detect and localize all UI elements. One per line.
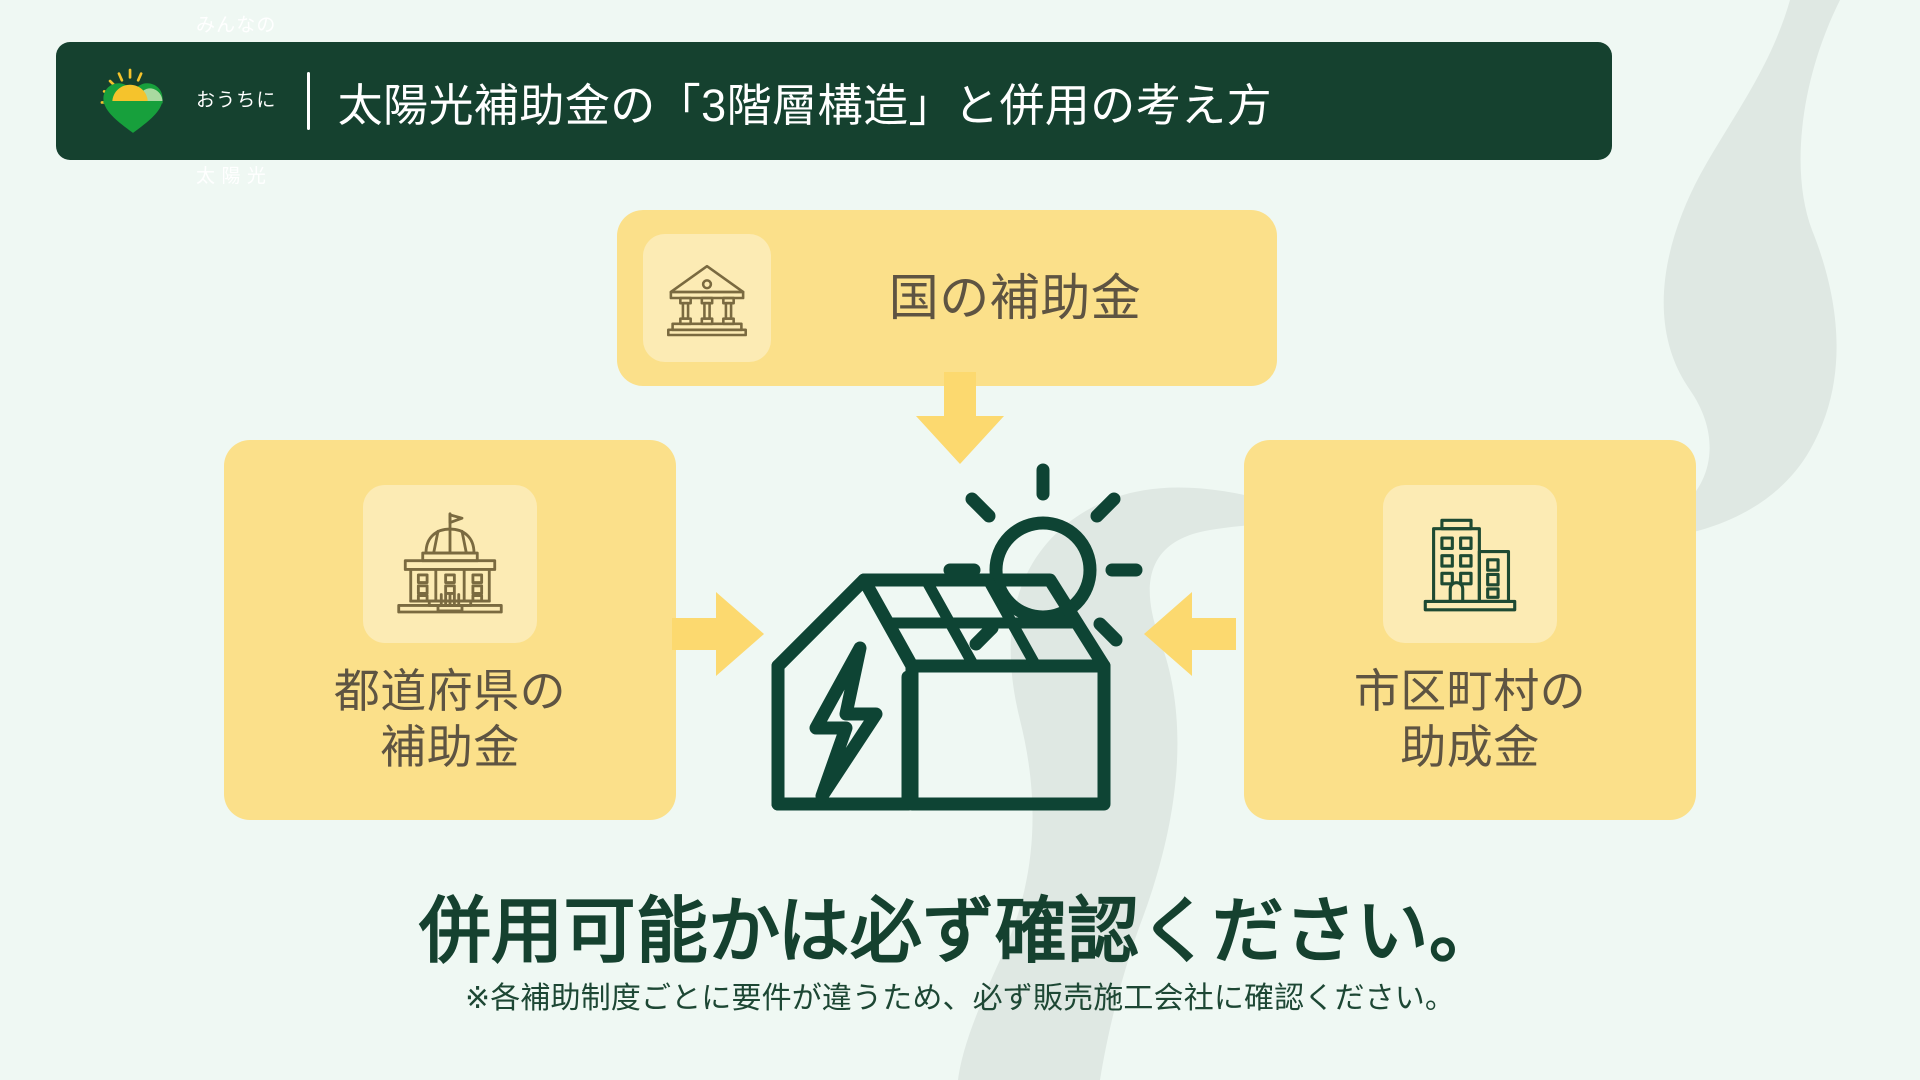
sun-heart-logo-icon — [96, 64, 170, 138]
footer-note: ※各補助制度ごとに要件が違うため、必ず販売施工会社に確認ください。 — [0, 973, 1920, 1017]
footer-headline: 併用可能かは必ず確認ください。 — [0, 872, 1920, 977]
card-national-subsidy[interactable]: 国の補助金 — [617, 210, 1277, 386]
card-municipal-grant[interactable]: 市区町村の 助成金 — [1244, 440, 1696, 820]
card-prefecture-subsidy[interactable]: 都道府県の 補助金 — [224, 440, 676, 820]
bank-building-icon — [664, 259, 750, 337]
brand-logo-text: みんなの おうちに 太陽光 — [196, 0, 277, 239]
national-icon-container — [643, 234, 771, 362]
header-bar: みんなの おうちに 太陽光 太陽光補助金の「3階層構造」と併用の考え方 — [56, 42, 1612, 160]
prefecture-icon-container — [363, 485, 537, 643]
card-prefecture-label: 都道府県の 補助金 — [334, 663, 566, 775]
page-title: 太陽光補助金の「3階層構造」と併用の考え方 — [338, 69, 1272, 134]
brand-line-2: おうちに — [196, 88, 277, 113]
arrow-right-icon — [672, 590, 764, 678]
brand-line-3: 太陽光 — [196, 164, 277, 189]
header-divider — [307, 72, 310, 130]
card-national-label: 国の補助金 — [771, 268, 1277, 329]
brand-line-1: みんなの — [196, 13, 277, 38]
solar-panel-house-with-sun-icon — [760, 452, 1160, 832]
arrow-down-icon — [910, 372, 1010, 464]
card-municipal-label: 市区町村の 助成金 — [1354, 663, 1586, 775]
infographic-canvas: みんなの おうちに 太陽光 太陽光補助金の「3階層構造」と併用の考え方 — [0, 0, 1920, 1080]
capitol-dome-building-icon — [390, 509, 510, 619]
city-office-building-icon — [1412, 512, 1528, 616]
municipal-icon-container — [1383, 485, 1557, 643]
brand-logo — [72, 42, 194, 160]
